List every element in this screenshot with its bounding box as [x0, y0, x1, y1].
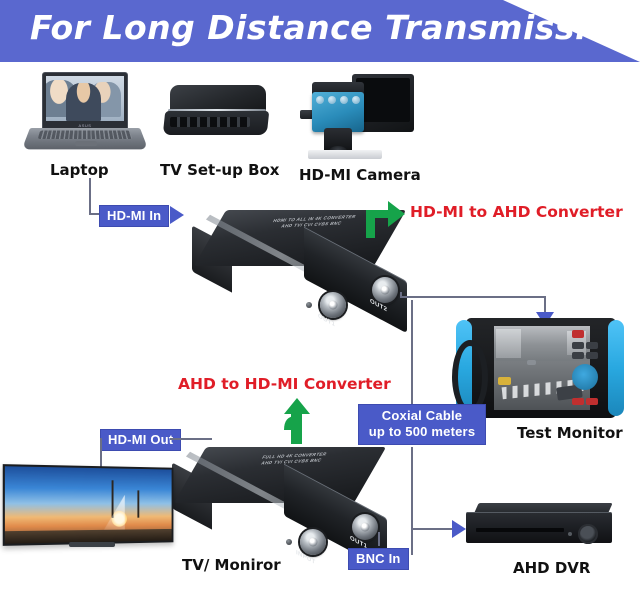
- top-converter-screw: [306, 302, 312, 308]
- dvr-led: [568, 532, 572, 536]
- tv-stand: [69, 542, 115, 547]
- line-laptop-down: [89, 178, 91, 214]
- dvr-front-panel: [466, 512, 612, 543]
- bottom-converter-screw: [286, 539, 292, 545]
- bottom-converter-image: FULL HD 4K CONVERTERAHD TVI CVI CVBS BNC…: [172, 447, 387, 559]
- dvr-caption: AHD DVR: [513, 559, 590, 577]
- top-converter-bnc-out2: [372, 277, 398, 303]
- camera-buttons: [316, 96, 360, 105]
- dvr-disc-slot: [476, 528, 564, 532]
- test-monitor-caption: Test Monitor: [517, 424, 623, 442]
- tag-bnc-in: BNC In: [348, 548, 409, 570]
- bottom-converter-label: AHD to HD-MI Converter: [178, 375, 391, 393]
- laptop-trackpad: [75, 141, 97, 146]
- line-hdmi-out-right: [170, 438, 212, 440]
- camera-caption: HD-MI Camera: [299, 166, 421, 184]
- bottom-converter-bnc-out1: [352, 514, 378, 540]
- laptop-keyboard: [38, 130, 133, 139]
- laptop-base: [22, 128, 148, 149]
- top-converter-bnc-out1: [320, 292, 346, 318]
- top-converter-label: HD-MI to AHD Converter: [410, 203, 623, 221]
- bottom-converter-bnc-input: [300, 529, 326, 555]
- laptop-lid: ASUS: [42, 72, 128, 130]
- infographic-canvas: For Long Distance Transmission ASUS Lapt…: [0, 0, 640, 604]
- tag-hdmi-in: HD-MI In: [99, 205, 169, 227]
- dvr-dial: [578, 524, 598, 544]
- screen-vehicle-1: [498, 377, 511, 385]
- tv-screen-mast-2: [137, 491, 138, 518]
- tv-panel: [3, 464, 174, 546]
- test-monitor-grip-right: [608, 320, 624, 416]
- tv-screen-mast-1: [112, 480, 113, 518]
- camera-stand-base: [308, 150, 382, 159]
- line-to-monitor-h: [400, 296, 545, 298]
- screen-vehicle-2: [527, 360, 537, 366]
- arrow-hdmi-in-right: [170, 206, 184, 224]
- setup-box-caption: TV Set-up Box: [160, 161, 280, 179]
- test-monitor-body: [466, 318, 616, 418]
- line-coax-to-dvr: [411, 528, 457, 530]
- laptop-image: ASUS: [30, 72, 140, 157]
- tv-caption: TV/ Moniror: [182, 556, 281, 574]
- ahd-dvr-image: [466, 503, 616, 551]
- tag-hdmi-out: HD-MI Out: [100, 429, 181, 451]
- arrow-into-dvr: [452, 520, 466, 538]
- hdmi-camera-image: [300, 70, 420, 160]
- page-title: For Long Distance Transmission: [30, 8, 634, 47]
- screen-building-left: [496, 329, 521, 358]
- tv-image: [6, 466, 178, 556]
- test-monitor-hand-strap: [452, 340, 488, 414]
- laptop-caption: Laptop: [50, 161, 109, 179]
- green-arrow-ahd-to-hdmi: [280, 396, 314, 446]
- camera-monitor-screen: [356, 78, 410, 122]
- tv-screen: [5, 466, 172, 543]
- line-coax-vertical-bottom: [411, 447, 413, 555]
- tag-coaxial-cable: Coxial Cableup to 500 meters: [358, 404, 486, 445]
- green-arrow-hdmi-to-ahd: [360, 196, 408, 240]
- laptop-screen: [46, 76, 124, 121]
- laptop-screen-person: [66, 83, 100, 121]
- test-monitor-dpad: [572, 364, 598, 390]
- setup-box-ports: [170, 117, 250, 127]
- line-bnc-in-up: [378, 532, 380, 546]
- tv-setup-box-image: [162, 85, 272, 147]
- line-coax-vertical-top: [411, 300, 413, 404]
